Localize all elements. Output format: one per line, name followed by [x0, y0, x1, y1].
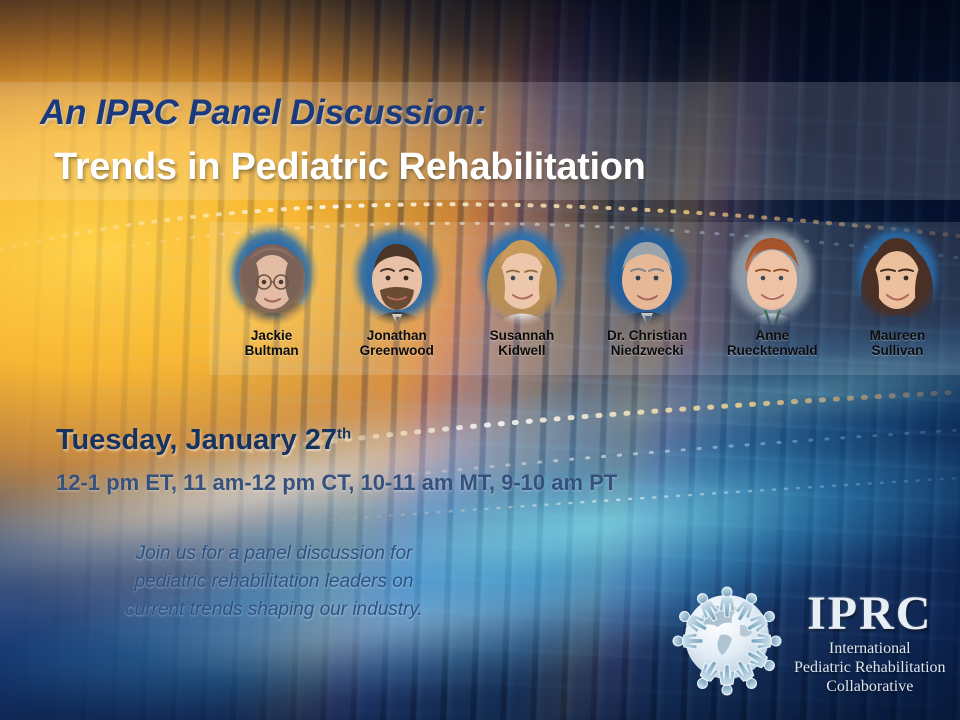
event-description-line-2: pediatric rehabilitation leaders on — [94, 568, 454, 596]
poster-title-secondary: Trends in Pediatric Rehabilitation — [54, 146, 646, 189]
iprc-tagline-line-3: Collaborative — [794, 677, 946, 696]
panelist-name: Susannah Kidwell — [490, 328, 555, 358]
event-description-line-1: Join us for a panel discussion for — [94, 540, 454, 568]
panelist-name: Jonathan Greenwood — [360, 328, 434, 358]
panelist-name: Maureen Sullivan — [870, 328, 926, 358]
iprc-logo: IPRC International Pediatric Rehabilitat… — [666, 578, 952, 706]
event-timezones: 12-1 pm ET, 11 am-12 pm CT, 10-11 am MT,… — [56, 470, 617, 496]
panelist-card: Dr. Christian Niedzwecki — [585, 216, 710, 381]
panelist-card: Susannah Kidwell — [459, 216, 584, 381]
panelist-name: Jackie Bultman — [245, 328, 299, 358]
iprc-tagline-line-1: International — [794, 639, 946, 658]
poster-title-primary: An IPRC Panel Discussion: — [40, 93, 486, 133]
panelist-card: Jackie Bultman — [209, 216, 334, 381]
headshot-anne-ruecktenwald — [725, 222, 819, 326]
headshot-maureen-sullivan — [850, 222, 944, 326]
panelist-card: Anne Ruecktenwald — [710, 216, 835, 381]
webinar-promo-poster: An IPRC Panel Discussion: Trends in Pedi… — [0, 0, 960, 720]
event-date-ordinal: th — [337, 425, 351, 442]
headshot-susannah-kidwell — [475, 222, 569, 326]
event-date-text: Tuesday, January 27 — [56, 424, 337, 456]
panelist-name: Anne Ruecktenwald — [727, 328, 818, 358]
iprc-logo-text: IPRC International Pediatric Rehabilitat… — [794, 589, 946, 696]
iprc-tagline-line-2: Pediatric Rehabilitation — [794, 658, 946, 677]
headshot-christian-niedzwecki — [600, 222, 694, 326]
event-description-line-3: current trends shaping our industry. — [94, 596, 454, 624]
headshot-jonathan-greenwood — [350, 222, 444, 326]
panelist-card: Maureen Sullivan — [835, 216, 960, 381]
event-date: Tuesday, January 27th — [56, 424, 351, 457]
iprc-tagline: International Pediatric Rehabilitation C… — [794, 639, 946, 696]
event-description: Join us for a panel discussion for pedia… — [94, 540, 454, 624]
globe-with-people-circle-icon — [666, 581, 788, 703]
panelist-row: Jackie Bultman Jona — [209, 216, 960, 381]
headshot-jackie-bultman — [225, 222, 319, 326]
panelist-name: Dr. Christian Niedzwecki — [607, 328, 687, 358]
iprc-acronym: IPRC — [794, 589, 946, 639]
panelist-card: Jonathan Greenwood — [334, 216, 459, 381]
